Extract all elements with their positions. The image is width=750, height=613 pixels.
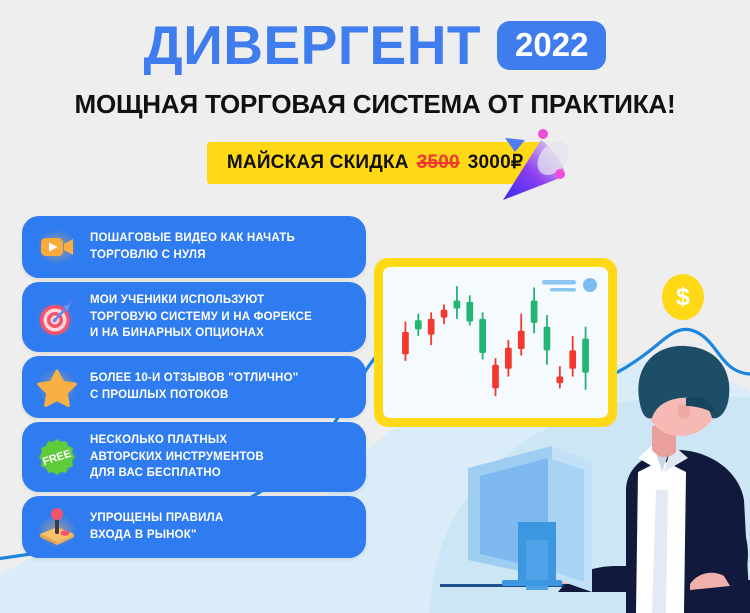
- target-dart-icon: [36, 296, 78, 338]
- promo-banner: ДИВЕРГЕНТ 2022 МОЩНАЯ ТОРГОВАЯ СИСТЕМА О…: [0, 0, 750, 613]
- feature-label: НЕСКОЛЬКО ПЛАТНЫХ АВТОРСКИХ ИНСТРУМЕНТОВ…: [90, 432, 264, 482]
- feature-card-rules[interactable]: УПРОЩЕНЫ ПРАВИЛА ВХОДА В РЫНОК": [22, 496, 366, 558]
- candlestick: [466, 295, 473, 325]
- candlestick: [454, 286, 461, 319]
- page-title: ДИВЕРГЕНТ: [144, 18, 481, 73]
- chart-legend-icon: [542, 277, 598, 297]
- title-row: ДИВЕРГЕНТ 2022: [0, 0, 750, 73]
- trader-illustration: [440, 340, 750, 613]
- free-badge-icon: FREE: [36, 436, 78, 478]
- feature-list: ПОШАГОВЫЕ ВИДЕО КАК НАЧАТЬ ТОРГОВЛЮ С НУ…: [22, 216, 366, 558]
- party-popper-icon: [497, 114, 577, 206]
- feature-label: МОИ УЧЕНИКИ ИСПОЛЬЗУЮТ ТОРГОВУЮ СИСТЕМУ …: [90, 292, 312, 342]
- candlestick: [415, 314, 422, 336]
- dollar-symbol: $: [676, 283, 690, 312]
- feature-card-target[interactable]: МОИ УЧЕНИКИ ИСПОЛЬЗУЮТ ТОРГОВУЮ СИСТЕМУ …: [22, 282, 366, 352]
- year-badge: 2022: [497, 21, 606, 70]
- discount-badge: МАЙСКАЯ СКИДКА 3500 3000₽: [207, 142, 543, 184]
- feature-card-free-tools[interactable]: FREE НЕСКОЛЬКО ПЛАТНЫХ АВТОРСКИХ ИНСТРУМ…: [22, 422, 366, 492]
- discount-label: МАЙСКАЯ СКИДКА: [227, 152, 409, 174]
- feature-card-reviews[interactable]: БОЛЕЕ 10-И ОТЗЫВОВ "ОТЛИЧНО" С ПРОШЛЫХ П…: [22, 356, 366, 418]
- feature-label: БОЛЕЕ 10-И ОТЗЫВОВ "ОТЛИЧНО" С ПРОШЛЫХ П…: [90, 370, 298, 403]
- promo-row: МАЙСКАЯ СКИДКА 3500 3000₽: [0, 142, 750, 184]
- dollar-coin-icon: $: [662, 274, 704, 320]
- video-camera-icon: [36, 226, 78, 268]
- subtitle: МОЩНАЯ ТОРГОВАЯ СИСТЕМА ОТ ПРАКТИКА!: [0, 89, 750, 120]
- candlestick: [402, 322, 409, 361]
- feature-label: УПРОЩЕНЫ ПРАВИЛА ВХОДА В РЫНОК": [90, 510, 223, 543]
- joystick-icon: [36, 506, 78, 548]
- candlestick: [441, 305, 448, 325]
- feature-label: ПОШАГОВЫЕ ВИДЕО КАК НАЧАТЬ ТОРГОВЛЮ С НУ…: [90, 230, 295, 263]
- candlestick: [428, 312, 435, 345]
- candlestick: [531, 287, 538, 333]
- banner-header: ДИВЕРГЕНТ 2022 МОЩНАЯ ТОРГОВАЯ СИСТЕМА О…: [0, 0, 750, 184]
- star-icon: [36, 366, 78, 408]
- old-price: 3500: [417, 152, 460, 174]
- feature-card-video[interactable]: ПОШАГОВЫЕ ВИДЕО КАК НАЧАТЬ ТОРГОВЛЮ С НУ…: [22, 216, 366, 278]
